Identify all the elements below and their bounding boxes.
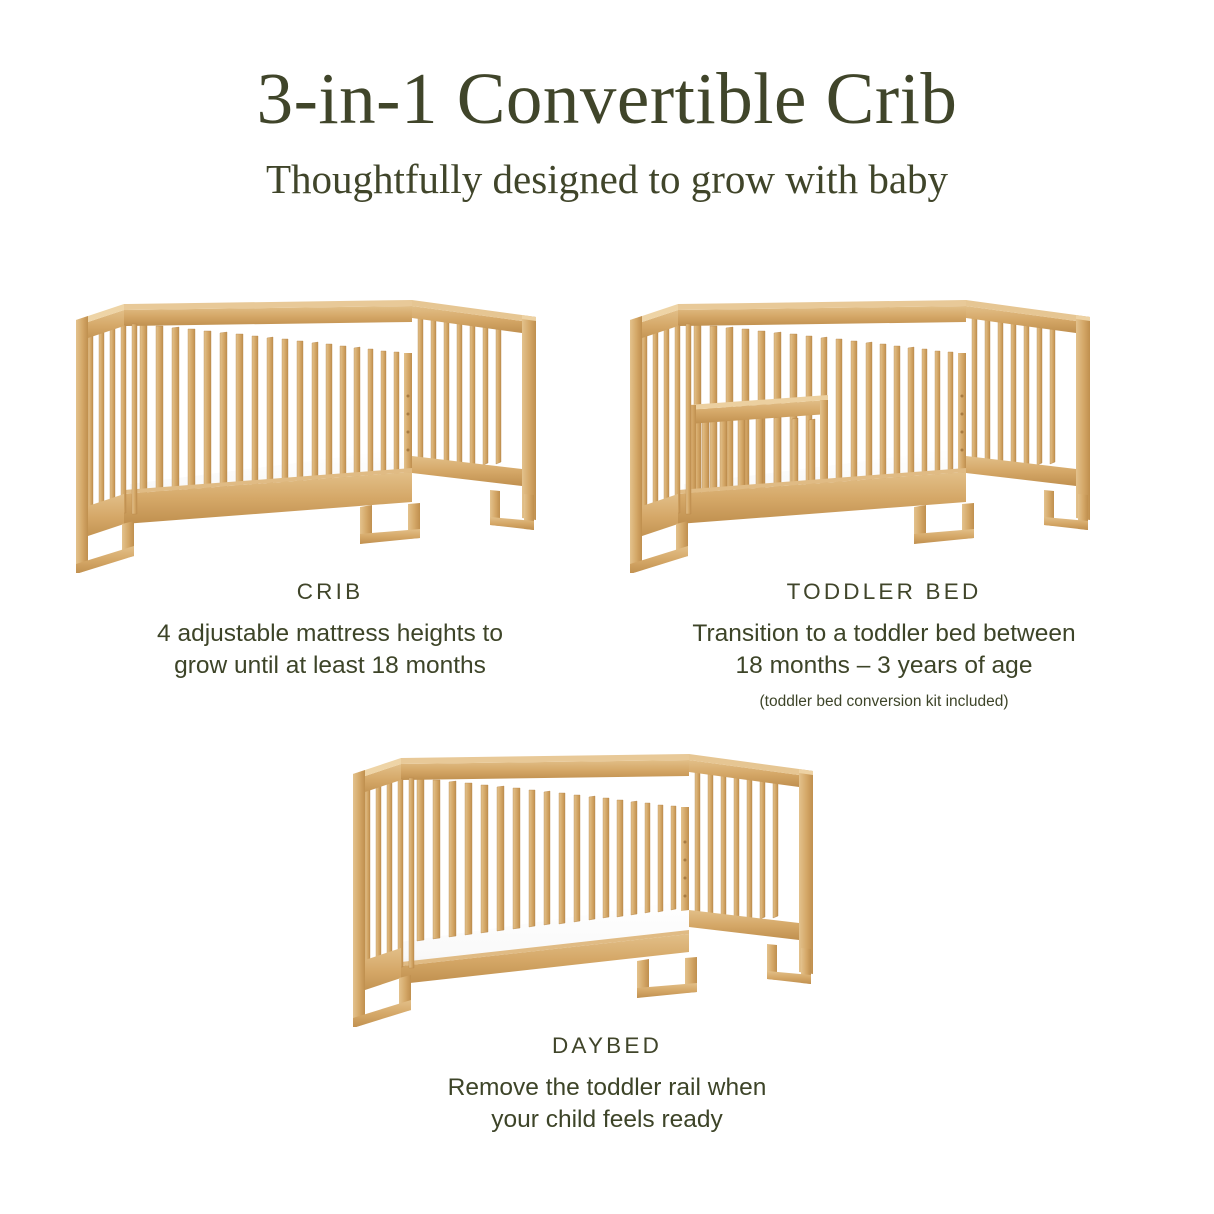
toddler-bed-caption-body: Transition to a toddler bed between 18 m… bbox=[614, 618, 1154, 683]
page-title: 3-in-1 Convertible Crib bbox=[0, 62, 1214, 135]
toddler-bed-caption-title: TODDLER BED bbox=[614, 581, 1154, 604]
daybed-illustration bbox=[337, 742, 877, 1027]
daybed-caption: DAYBED Remove the toddler rail when your… bbox=[337, 1027, 877, 1137]
mode-panel-daybed: DAYBED Remove the toddler rail when your… bbox=[337, 742, 877, 1137]
mode-panel-crib: CRIB 4 adjustable mattress heights to gr… bbox=[60, 288, 600, 683]
daybed-caption-title: DAYBED bbox=[337, 1035, 877, 1058]
page-subtitle: Thoughtfully designed to grow with baby bbox=[0, 159, 1214, 200]
mode-panel-toddler-bed: TODDLER BED Transition to a toddler bed … bbox=[614, 288, 1154, 712]
page-header: 3-in-1 Convertible Crib Thoughtfully des… bbox=[0, 0, 1214, 200]
crib-caption-title: CRIB bbox=[60, 581, 600, 604]
toddler-bed-caption: TODDLER BED Transition to a toddler bed … bbox=[614, 573, 1154, 712]
daybed-caption-body: Remove the toddler rail when your child … bbox=[337, 1072, 877, 1137]
toddler-bed-caption-note: (toddler bed conversion kit included) bbox=[614, 692, 1154, 712]
crib-caption-body: 4 adjustable mattress heights to grow un… bbox=[60, 618, 600, 683]
crib-caption: CRIB 4 adjustable mattress heights to gr… bbox=[60, 573, 600, 683]
crib-illustration bbox=[60, 288, 600, 573]
toddler-bed-illustration bbox=[614, 288, 1154, 573]
